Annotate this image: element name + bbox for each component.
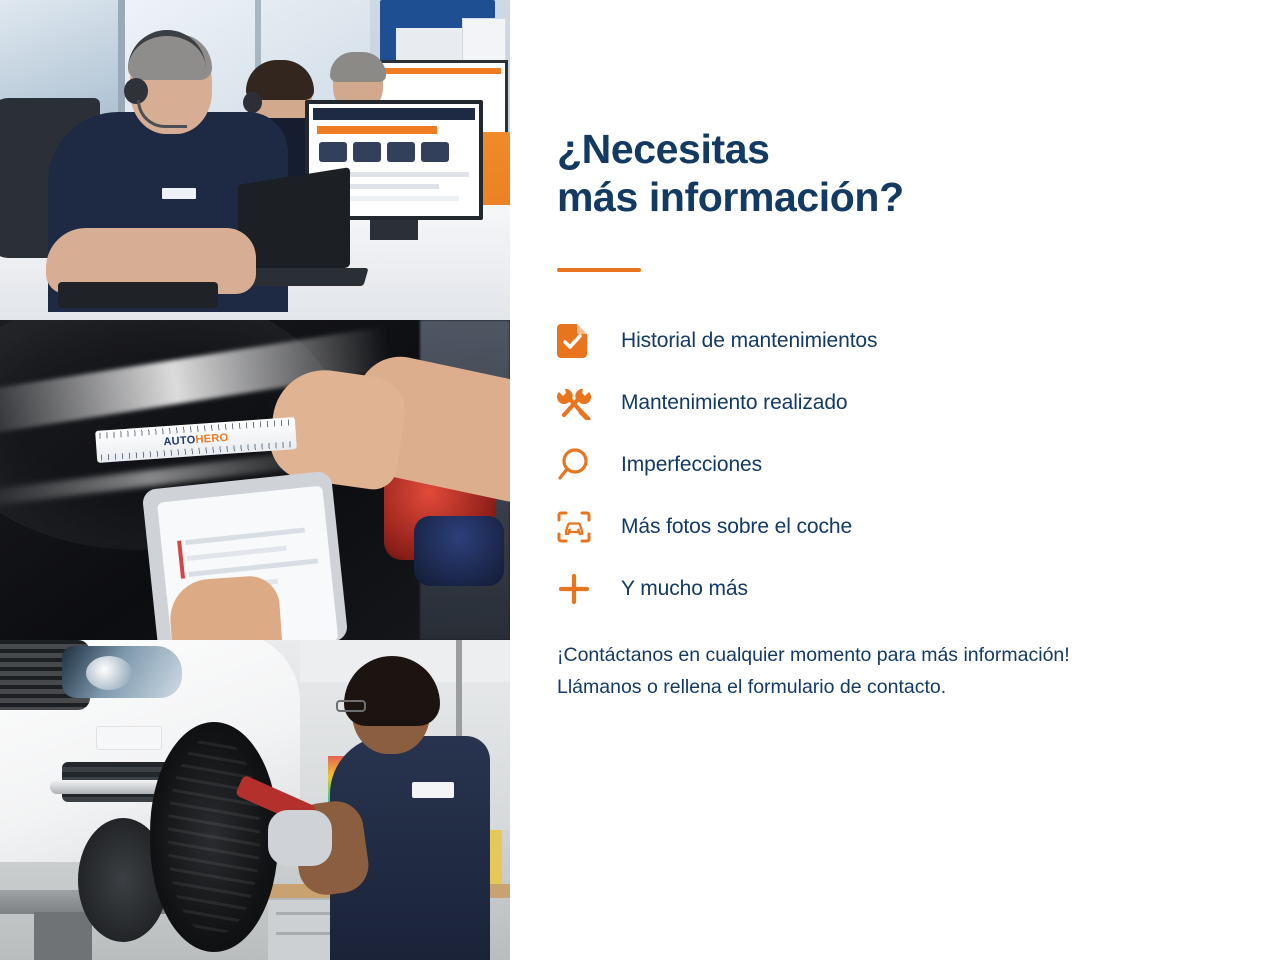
marketing-banner: AUTOHERO <box>0 0 1280 960</box>
feature-label: Historial de mantenimientos <box>621 329 877 353</box>
feature-item-mantenimiento: Mantenimiento realizado <box>557 372 1077 434</box>
feature-item-fotos: Más fotos sobre el coche <box>557 496 1077 558</box>
license-plate-area <box>96 726 162 750</box>
feature-label: Mantenimiento realizado <box>621 391 848 415</box>
plus-icon <box>557 572 603 606</box>
feature-item-imperfecciones: Imperfecciones <box>557 434 1077 496</box>
desk-tablet <box>58 282 218 308</box>
feature-item-historial: Historial de mantenimientos <box>557 310 1077 372</box>
feature-label: Imperfecciones <box>621 453 762 477</box>
mechanic-glove <box>268 810 332 866</box>
magnifier-icon <box>557 448 603 482</box>
headlight-lens <box>86 656 132 690</box>
agent-2-headphone <box>243 92 262 113</box>
feature-label: Más fotos sobre el coche <box>621 515 852 539</box>
content-panel: ¿Necesitas más información? Historial de… <box>510 0 1280 960</box>
monitor-stand <box>370 218 418 240</box>
feature-item-mucho-mas: Y mucho más <box>557 558 1077 620</box>
agent-3-hair <box>330 52 386 82</box>
photo-vehicle-inspection: AUTOHERO <box>0 320 510 640</box>
title-divider <box>557 268 641 272</box>
contact-text: ¡Contáctanos en cualquier momento para m… <box>557 640 1237 703</box>
mechanic-glasses <box>336 700 366 712</box>
brand-hero: HERO <box>195 432 229 446</box>
document-check-icon <box>557 324 603 358</box>
car-lift-leg <box>34 912 92 960</box>
feature-list: Historial de mantenimientos Mantenimient… <box>557 310 1077 620</box>
photo-call-center <box>0 0 510 320</box>
page-title: ¿Necesitas más información? <box>557 125 904 222</box>
reflection-blue <box>414 516 504 586</box>
agent-1-polo-logo <box>162 188 196 199</box>
brand-auto: AUTO <box>163 434 196 448</box>
photo-column: AUTOHERO <box>0 0 510 960</box>
tyre-tread <box>168 736 260 936</box>
mechanic-polo-logo <box>412 782 454 798</box>
tools-wrench-screwdriver-icon <box>557 386 603 420</box>
feature-label: Y mucho más <box>621 577 748 601</box>
photo-workshop-wheel <box>0 640 510 960</box>
car-focus-frame-icon <box>557 511 603 543</box>
